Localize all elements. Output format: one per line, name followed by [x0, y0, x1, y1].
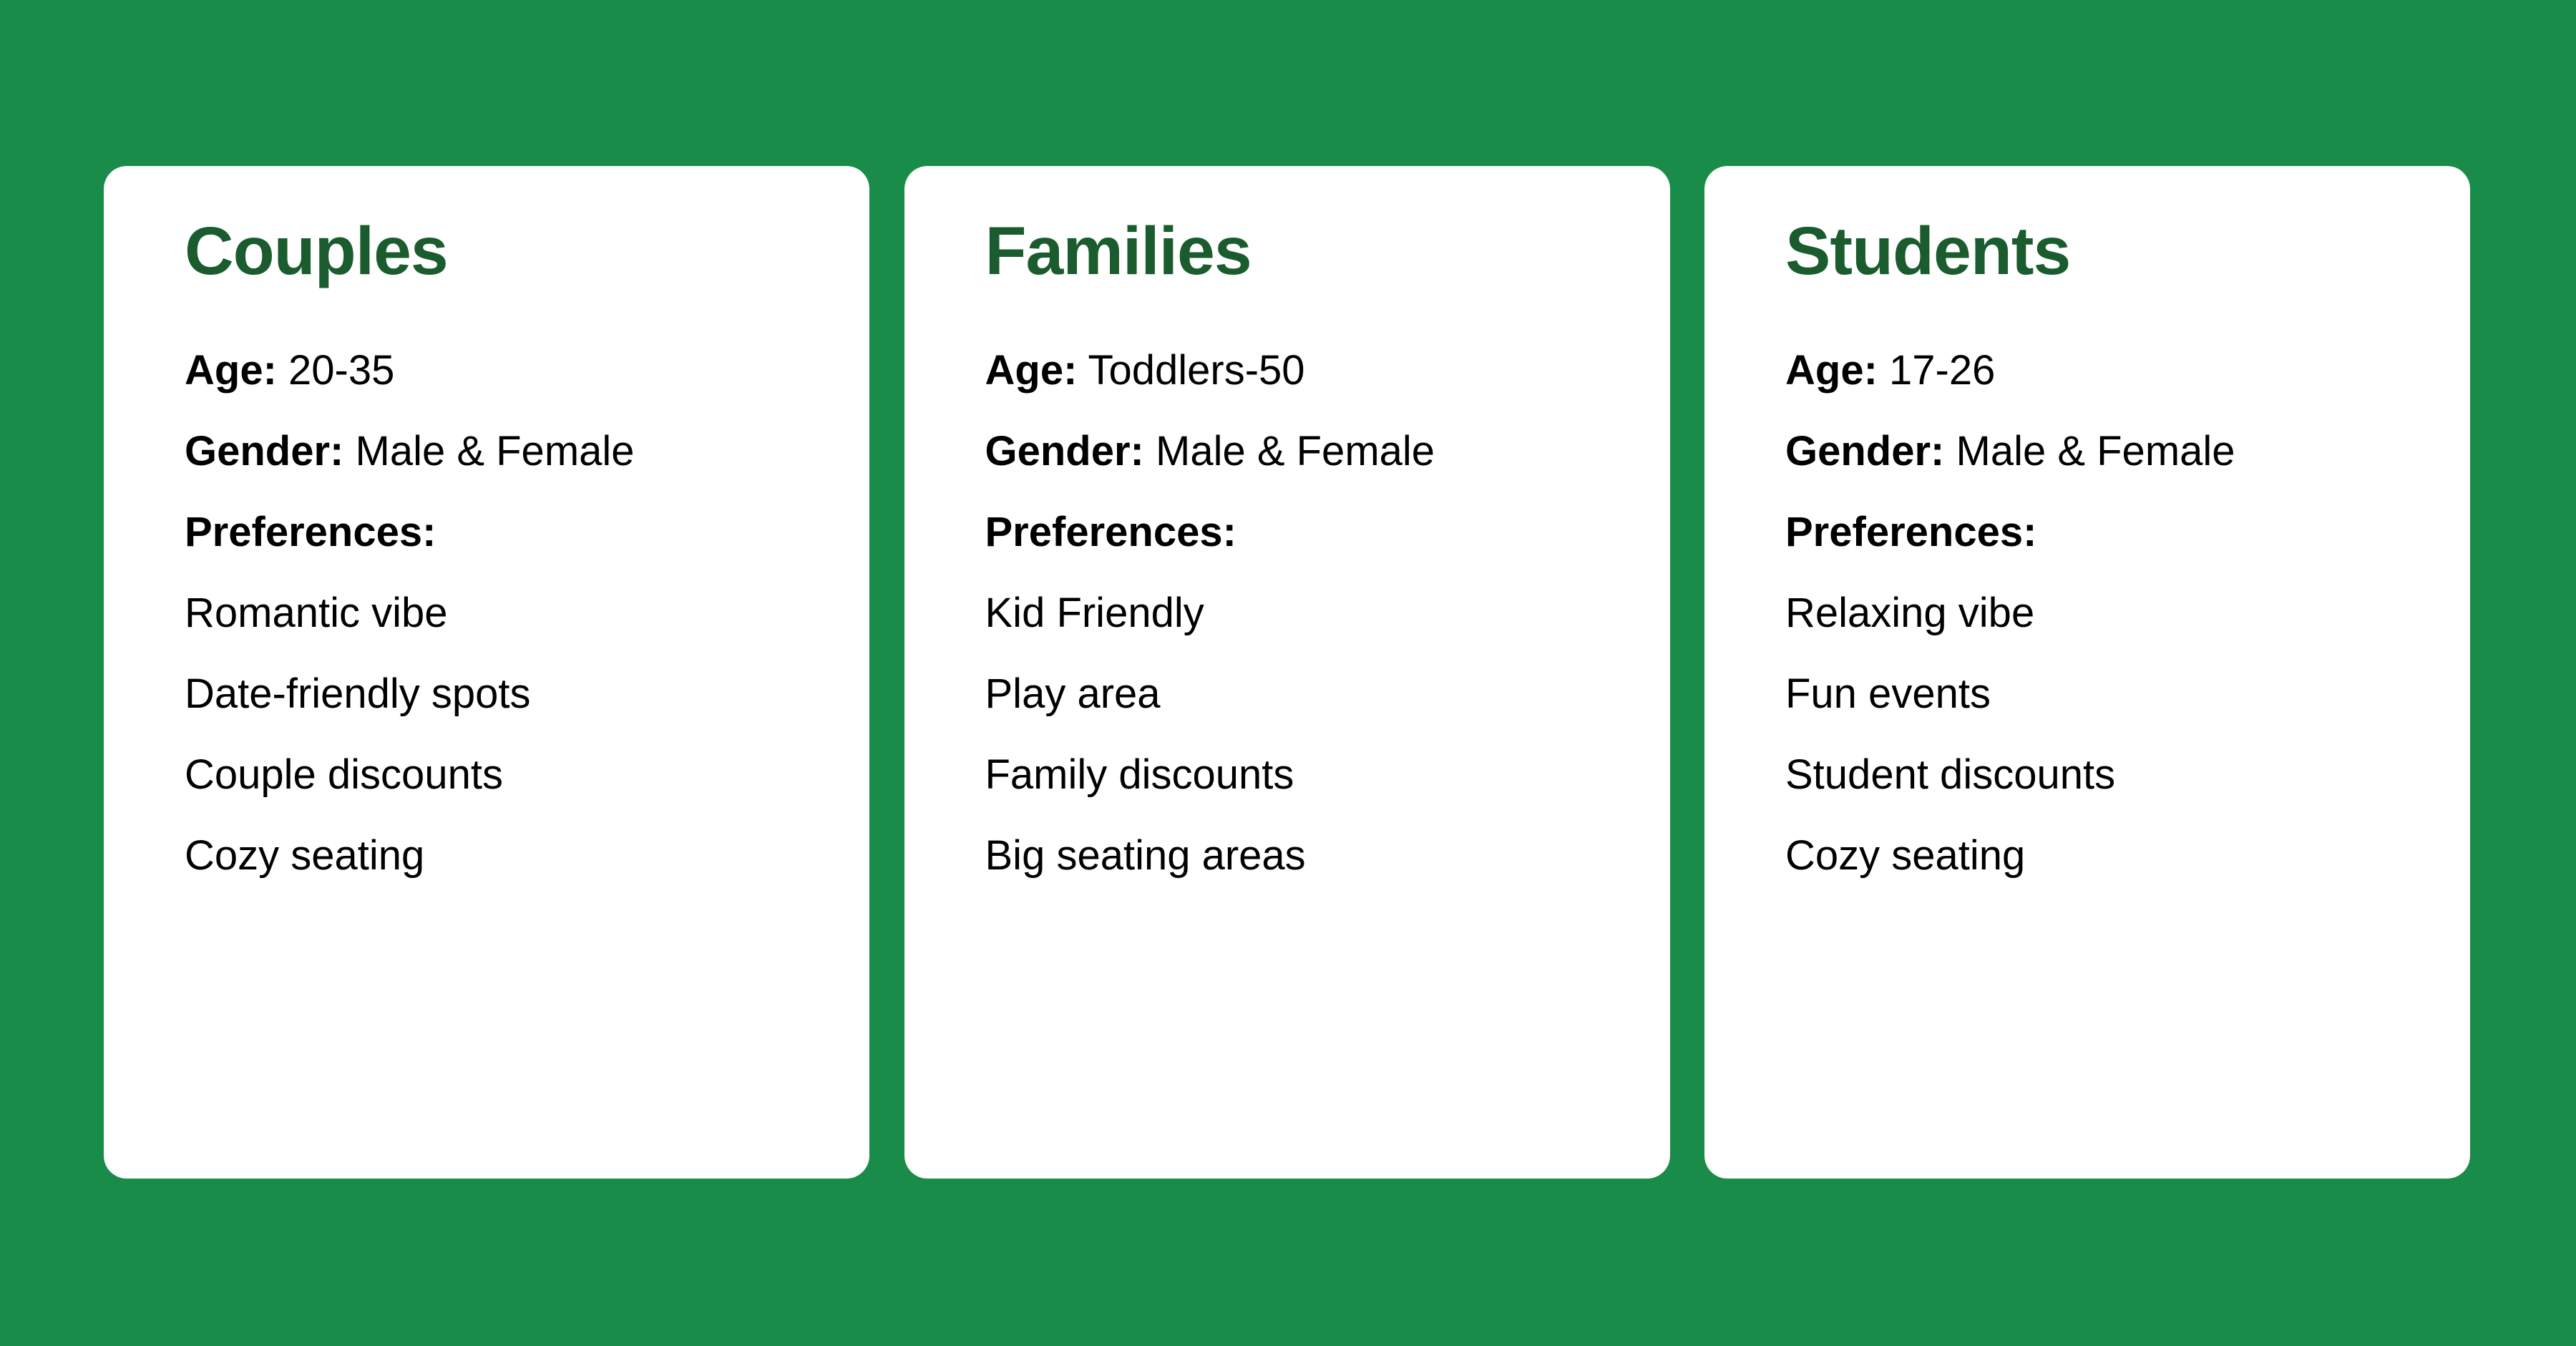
preference-item: Cozy seating — [185, 815, 635, 896]
age-value: 17-26 — [1889, 347, 1995, 394]
preference-item: Date-friendly spots — [185, 653, 635, 734]
gender-label: Gender: — [185, 428, 343, 474]
preferences-label: Preferences: — [1785, 492, 2235, 572]
preference-item: Relaxing vibe — [1785, 572, 2235, 653]
persona-cards-row: Couples Age: 20-35 Gender: Male & Female… — [104, 166, 2470, 1179]
preference-item: Cozy seating — [1785, 815, 2235, 896]
card-body: Age: 17-26 Gender: Male & Female Prefere… — [1785, 330, 2235, 896]
card-body: Age: Toddlers-50 Gender: Male & Female P… — [985, 330, 1435, 896]
preference-item: Kid Friendly — [985, 572, 1435, 653]
age-value: 20-35 — [288, 347, 394, 394]
persona-card-couples[interactable]: Couples Age: 20-35 Gender: Male & Female… — [104, 166, 869, 1179]
card-title: Couples — [185, 218, 448, 286]
gender-label: Gender: — [985, 428, 1144, 474]
gender-line: Gender: Male & Female — [1785, 411, 2235, 492]
age-line: Age: 20-35 — [185, 330, 635, 411]
preferences-label: Preferences: — [985, 492, 1435, 572]
gender-value: Male & Female — [356, 428, 635, 474]
age-label: Age: — [985, 347, 1078, 394]
card-title: Students — [1785, 218, 2070, 286]
age-line: Age: 17-26 — [1785, 330, 2235, 411]
card-title: Families — [985, 218, 1252, 286]
preference-item: Couple discounts — [185, 734, 635, 815]
persona-card-families[interactable]: Families Age: Toddlers-50 Gender: Male &… — [904, 166, 1670, 1179]
preferences-label: Preferences: — [185, 492, 635, 572]
gender-line: Gender: Male & Female — [985, 411, 1435, 492]
preference-item: Play area — [985, 653, 1435, 734]
gender-value: Male & Female — [1956, 428, 2235, 474]
card-body: Age: 20-35 Gender: Male & Female Prefere… — [185, 330, 635, 896]
gender-label: Gender: — [1785, 428, 1944, 474]
persona-board: Couples Age: 20-35 Gender: Male & Female… — [0, 0, 2576, 1346]
persona-card-students[interactable]: Students Age: 17-26 Gender: Male & Femal… — [1704, 166, 2470, 1179]
age-value: Toddlers-50 — [1088, 347, 1304, 394]
preference-item: Big seating areas — [985, 815, 1435, 896]
age-line: Age: Toddlers-50 — [985, 330, 1435, 411]
preference-item: Family discounts — [985, 734, 1435, 815]
gender-line: Gender: Male & Female — [185, 411, 635, 492]
preference-item: Fun events — [1785, 653, 2235, 734]
preference-item: Romantic vibe — [185, 572, 635, 653]
gender-value: Male & Female — [1156, 428, 1435, 474]
preference-item: Student discounts — [1785, 734, 2235, 815]
age-label: Age: — [185, 347, 277, 394]
age-label: Age: — [1785, 347, 1878, 394]
